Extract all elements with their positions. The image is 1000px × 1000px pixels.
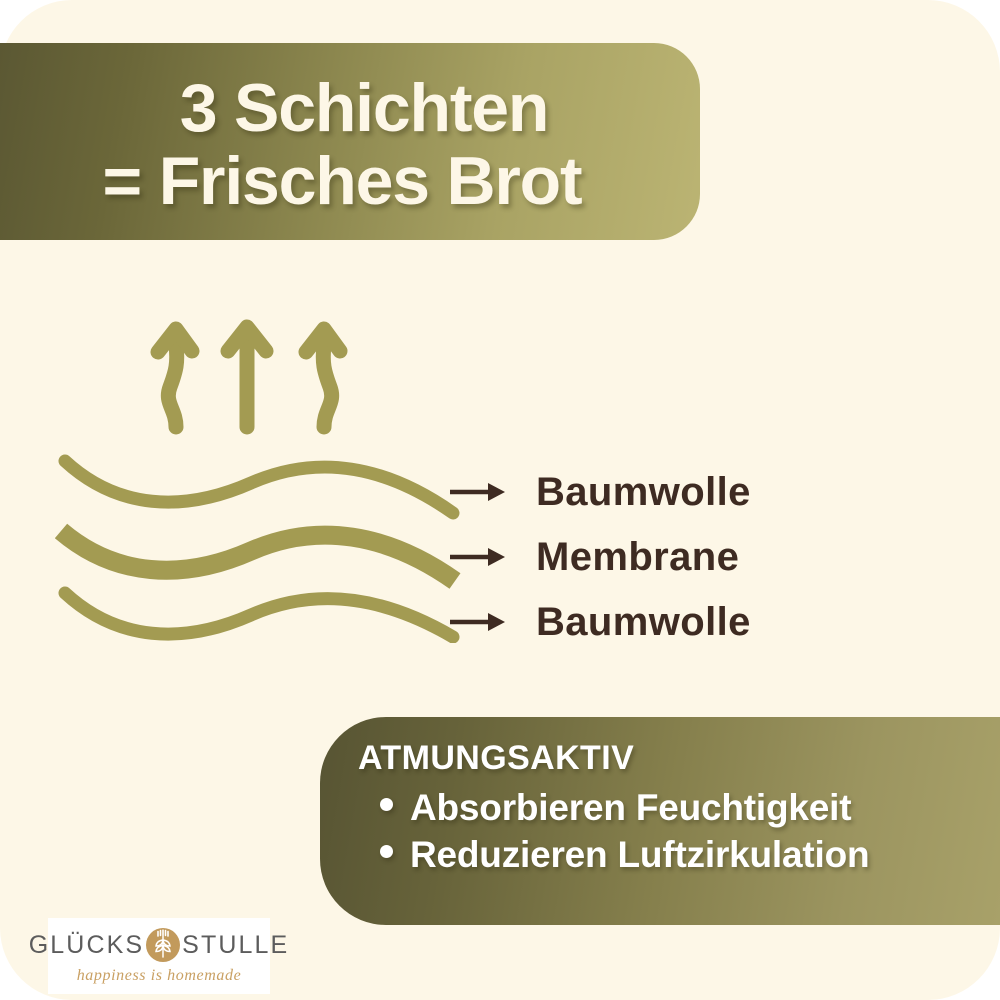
benefits-list-item-text: Absorbieren Feuchtigkeit	[410, 784, 851, 831]
brand-logo-wordmark: GLÜCKS	[29, 925, 290, 965]
fabric-layers-group	[55, 443, 465, 643]
benefits-list-item: Absorbieren Feuchtigkeit	[380, 784, 1000, 831]
layer-top-wave-icon	[65, 461, 453, 513]
steam-arrow-left-icon	[158, 329, 192, 427]
steam-arrows-group	[148, 305, 358, 435]
layer-label-row-bottom: Baumwolle	[450, 591, 870, 653]
header-title-line-2: = Frisches Brot	[103, 145, 582, 218]
layer-labels-group: Baumwolle Membrane Baumwolle	[450, 455, 870, 653]
wheat-circle-icon	[145, 927, 181, 963]
infographic-canvas: 3 Schichten = Frisches Brot	[0, 0, 1000, 1000]
layer-label-middle: Membrane	[536, 535, 739, 580]
layer-label-row-top: Baumwolle	[450, 461, 870, 523]
bullet-icon	[380, 845, 393, 858]
layer-label-row-middle: Membrane	[450, 526, 870, 588]
pointer-arrow-icon	[450, 481, 506, 503]
layer-label-bottom: Baumwolle	[536, 600, 751, 645]
brand-logo-tagline: happiness is homemade	[77, 967, 242, 985]
bullet-icon	[380, 798, 393, 811]
pointer-arrow-icon	[450, 546, 506, 568]
steam-arrow-right-icon	[306, 329, 340, 427]
layer-label-top: Baumwolle	[536, 470, 751, 515]
benefits-list-item-text: Reduzieren Luftzirkulation	[410, 831, 869, 878]
pointer-arrow-icon	[450, 611, 506, 633]
benefits-list: Absorbieren Feuchtigkeit Reduzieren Luft…	[358, 784, 1000, 879]
steam-arrow-center-icon	[228, 327, 266, 427]
header-title-line-1: 3 Schichten	[180, 72, 548, 145]
header-banner: 3 Schichten = Frisches Brot	[0, 43, 700, 240]
benefits-banner: ATMUNGSAKTIV Absorbieren Feuchtigkeit Re…	[320, 717, 1000, 925]
layer-middle-wave-icon	[61, 531, 455, 581]
layer-bottom-wave-icon	[65, 593, 453, 637]
benefits-list-item: Reduzieren Luftzirkulation	[380, 831, 1000, 878]
benefits-banner-title: ATMUNGSAKTIV	[358, 739, 1000, 778]
brand-logo: GLÜCKS	[48, 918, 270, 994]
brand-logo-word-left: GLÜCKS	[29, 931, 144, 960]
brand-logo-word-right: STULLE	[182, 931, 289, 960]
